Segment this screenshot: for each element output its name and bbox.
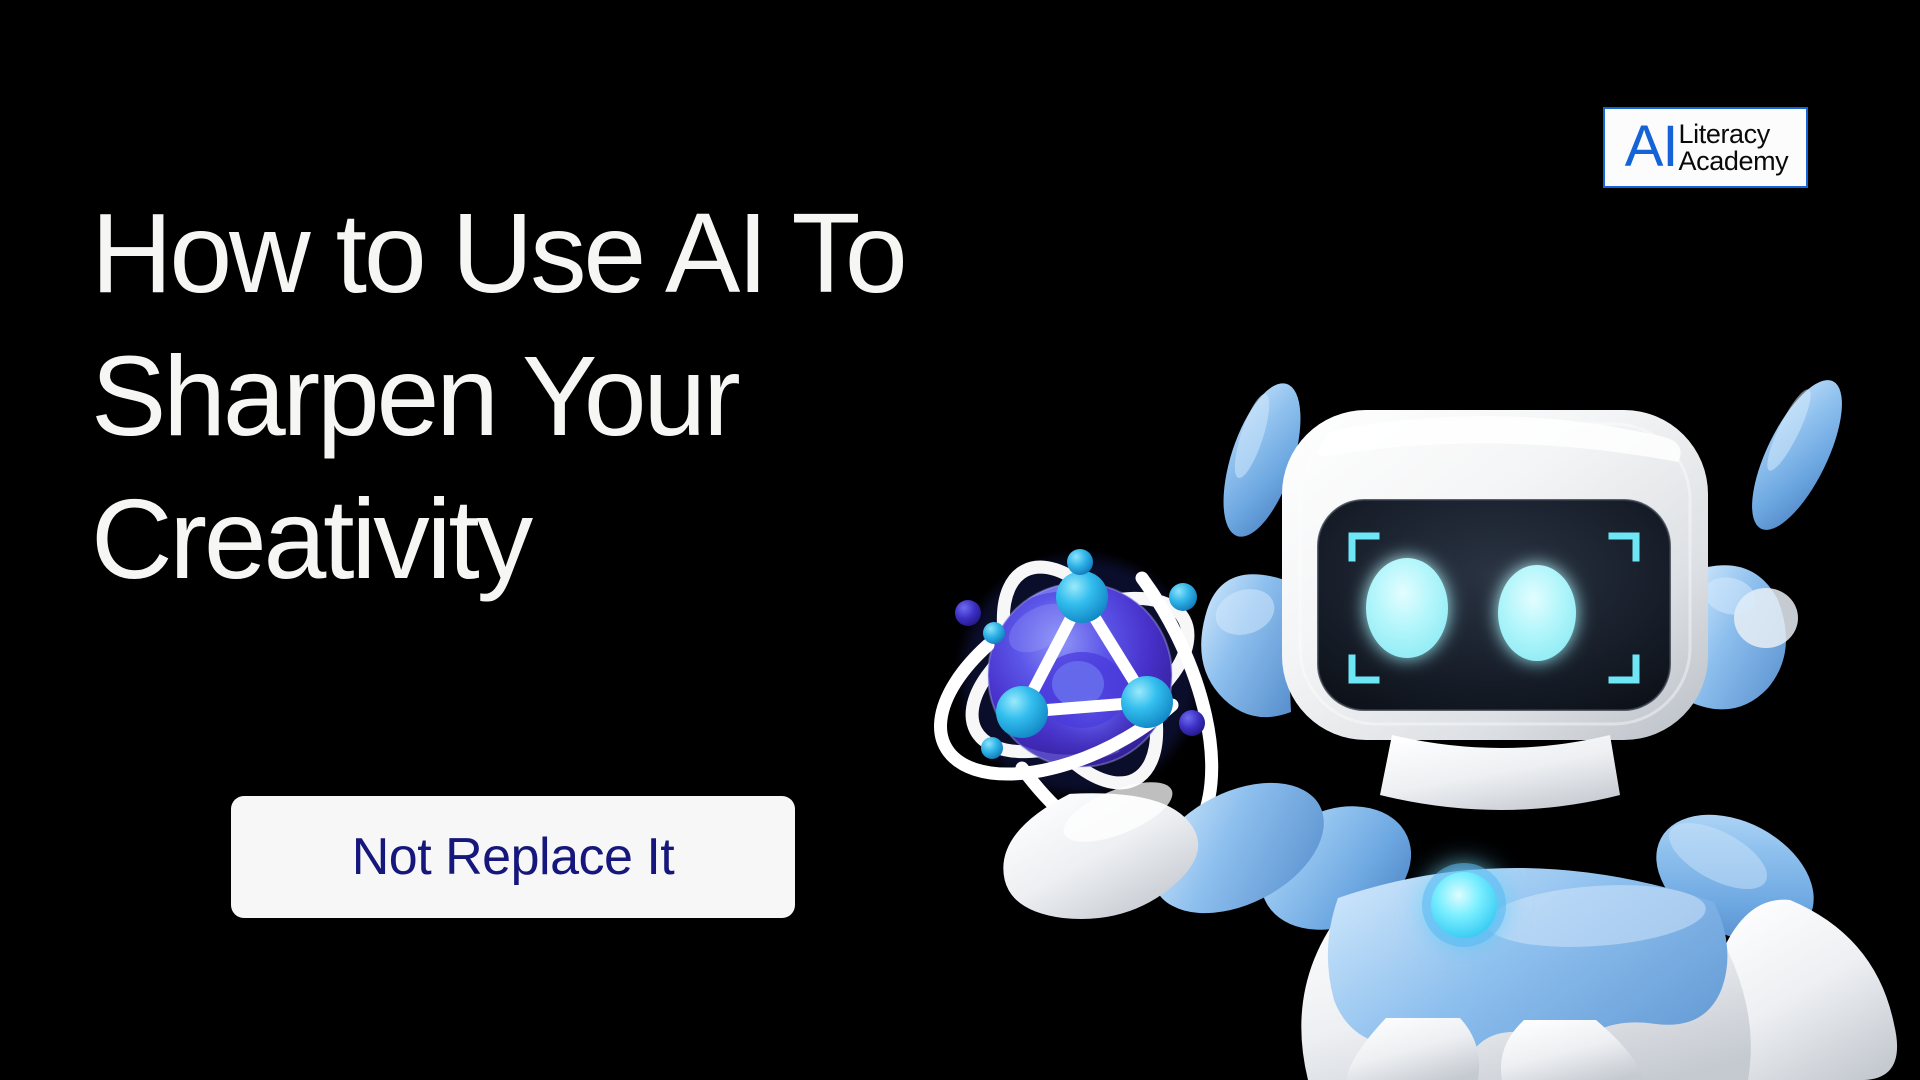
logo-word-academy: Academy: [1679, 148, 1789, 175]
orb-rings-front: [941, 578, 1212, 856]
cta-label: Not Replace It: [352, 827, 675, 887]
not-replace-it-button[interactable]: Not Replace It: [231, 796, 795, 918]
ear-right: [1690, 565, 1798, 709]
headline: How to Use AI To Sharpen Your Creativity: [91, 182, 1091, 611]
arm-right: [1635, 789, 1898, 1080]
orb-node-links: [1022, 597, 1147, 712]
chest-core: [1422, 863, 1506, 947]
headline-line-1: How to Use AI To: [91, 182, 1091, 325]
logo-ai-mark: AI: [1625, 121, 1678, 172]
neck: [1380, 735, 1620, 810]
legs: [1346, 1018, 1644, 1080]
head: [1282, 410, 1708, 740]
logo-wordmark: Literacy Academy: [1679, 121, 1789, 175]
eye-left: [1366, 558, 1448, 658]
ear-left: [1201, 574, 1291, 717]
brand-logo[interactable]: AI Literacy Academy: [1603, 107, 1808, 188]
torso: [1301, 863, 1750, 1080]
logo-inner: AI Literacy Academy: [1625, 121, 1789, 175]
arm-left: [994, 756, 1431, 952]
forearm-right: [1712, 900, 1897, 1080]
face-screen: [1318, 500, 1670, 710]
antenna-left: [1208, 374, 1316, 545]
hand-left: [994, 777, 1207, 930]
lower-body: [1301, 884, 1750, 1080]
headline-line-2: Sharpen Your: [91, 325, 1091, 468]
logo-word-literacy: Literacy: [1679, 121, 1789, 148]
chest-plate: [1328, 868, 1728, 1080]
eye-right: [1498, 565, 1576, 661]
banner-canvas: How to Use AI To Sharpen Your Creativity…: [0, 0, 1920, 1080]
antenna-right: [1734, 368, 1860, 542]
headline-line-3: Creativity: [91, 468, 1091, 611]
screen-corner-brackets: [1352, 536, 1636, 680]
